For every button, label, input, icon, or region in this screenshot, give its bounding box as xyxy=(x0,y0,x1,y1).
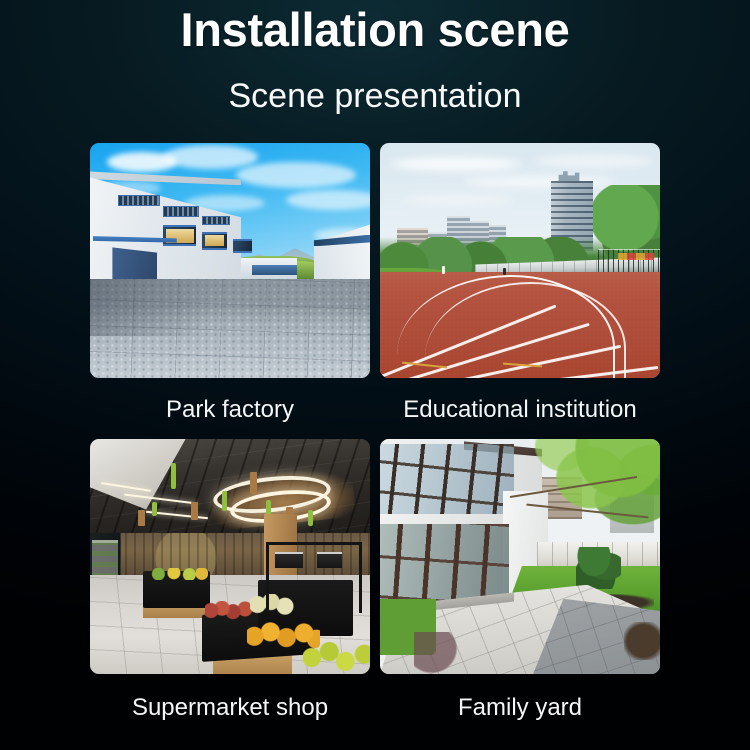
hanging-green-sign xyxy=(152,502,157,516)
lower-glass-doors xyxy=(380,524,509,604)
red-apples xyxy=(205,601,255,620)
person-on-track xyxy=(442,266,445,274)
scene-caption: Park factory xyxy=(90,378,370,439)
page-subtitle: Scene presentation xyxy=(0,79,750,113)
scene-caption: Supermarket shop xyxy=(90,674,370,720)
hanging-green-sign xyxy=(171,463,176,489)
cloud-shape xyxy=(236,162,356,188)
scene-row-2: Supermarket shop xyxy=(90,439,660,720)
scene-caption: Family yard xyxy=(380,674,660,720)
cloud-shape xyxy=(286,190,370,210)
scene-card-supermarket-shop[interactable]: Supermarket shop xyxy=(90,439,370,720)
field-banner xyxy=(618,253,654,260)
scene-row-1: Park factory xyxy=(90,143,660,439)
bonsai-tree xyxy=(576,547,621,589)
scene-card-family-yard[interactable]: Family yard xyxy=(380,439,660,720)
hanging-green-sign xyxy=(222,491,227,511)
upper-window-wall xyxy=(380,444,514,515)
produce-items xyxy=(146,568,208,580)
counter-equipment xyxy=(317,552,342,568)
page-title: Installation scene xyxy=(0,0,750,53)
window-glow xyxy=(205,235,225,247)
scene-card-educational-institution[interactable]: Educational institution xyxy=(380,143,660,439)
cloud-shape xyxy=(402,195,512,205)
hanging-wood-sign xyxy=(191,502,198,520)
hanging-wood-sign xyxy=(250,472,257,494)
far-building-windows xyxy=(252,265,297,274)
scene-caption: Educational institution xyxy=(380,378,660,439)
supermarket-shop-photo[interactable] xyxy=(90,439,370,674)
flower-bed xyxy=(414,632,459,674)
soil-bed xyxy=(624,622,660,660)
foliage-canopy xyxy=(520,439,660,557)
person-on-track xyxy=(503,268,506,275)
scene-card-park-factory[interactable]: Park factory xyxy=(90,143,370,439)
wall-vent xyxy=(118,195,160,207)
park-factory-photo[interactable] xyxy=(90,143,370,378)
window-strip xyxy=(233,239,253,253)
family-yard-photo[interactable] xyxy=(380,439,660,674)
ground-shadow xyxy=(90,279,236,335)
hanging-wood-sign xyxy=(138,510,145,526)
wall-vent xyxy=(202,216,230,225)
installation-scene-page: Installation scene Scene presentation xyxy=(0,0,750,113)
counter-equipment xyxy=(275,552,303,568)
hanging-green-sign xyxy=(308,510,313,526)
scene-gallery: Park factory xyxy=(90,143,660,720)
educational-institution-photo[interactable] xyxy=(380,143,660,378)
cloud-shape xyxy=(534,155,654,167)
wall-vent xyxy=(163,206,199,216)
green-apples xyxy=(303,641,370,674)
